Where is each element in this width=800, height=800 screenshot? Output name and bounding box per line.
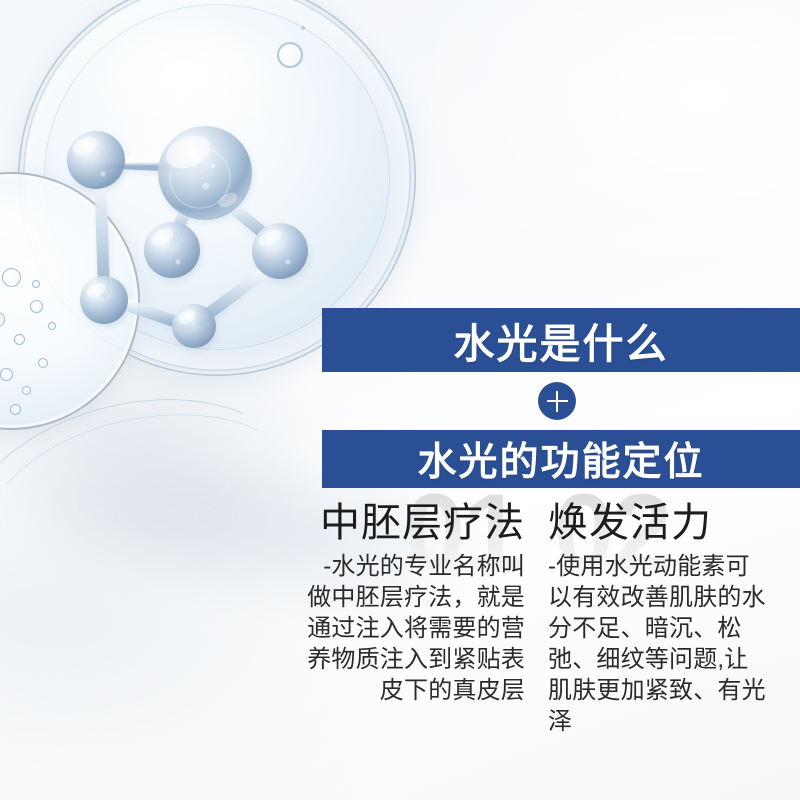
plus-icon: + [538, 382, 576, 420]
bubble-ring-icon [277, 42, 303, 68]
section-01-body: -水光的专业名称叫做中胚层疗法，就是通过注入将需要的营养物质注入到紧贴表皮下的真… [305, 551, 525, 706]
banner-what-is-title: 水光是什么 [454, 310, 669, 370]
petri-dish-highlight [70, 12, 300, 132]
poster-canvas: 水光是什么 + 水光的功能定位 01 中胚层疗法 -水光的专业名称叫做中胚层疗法… [0, 0, 800, 800]
section-02: 02 焕发活力 -使用水光动能素可以有效改善肌肤的水分不足、暗沉、松弛、细纹等问… [548, 502, 768, 737]
bubble-dot [301, 26, 305, 30]
plus-icon-vertical-bar [556, 391, 558, 412]
section-02-heading: 焕发活力 [548, 502, 768, 545]
banner-what-is: 水光是什么 [322, 308, 800, 372]
section-01-heading: 中胚层疗法 [305, 502, 525, 545]
section-01: 01 中胚层疗法 -水光的专业名称叫做中胚层疗法，就是通过注入将需要的营养物质注… [305, 502, 525, 706]
sections-container: 01 中胚层疗法 -水光的专业名称叫做中胚层疗法，就是通过注入将需要的营养物质注… [300, 502, 800, 800]
section-02-body: -使用水光动能素可以有效改善肌肤的水分不足、暗沉、松弛、细纹等问题,让肌肤更加紧… [548, 551, 768, 737]
petri-dish-highlight [0, 188, 62, 254]
